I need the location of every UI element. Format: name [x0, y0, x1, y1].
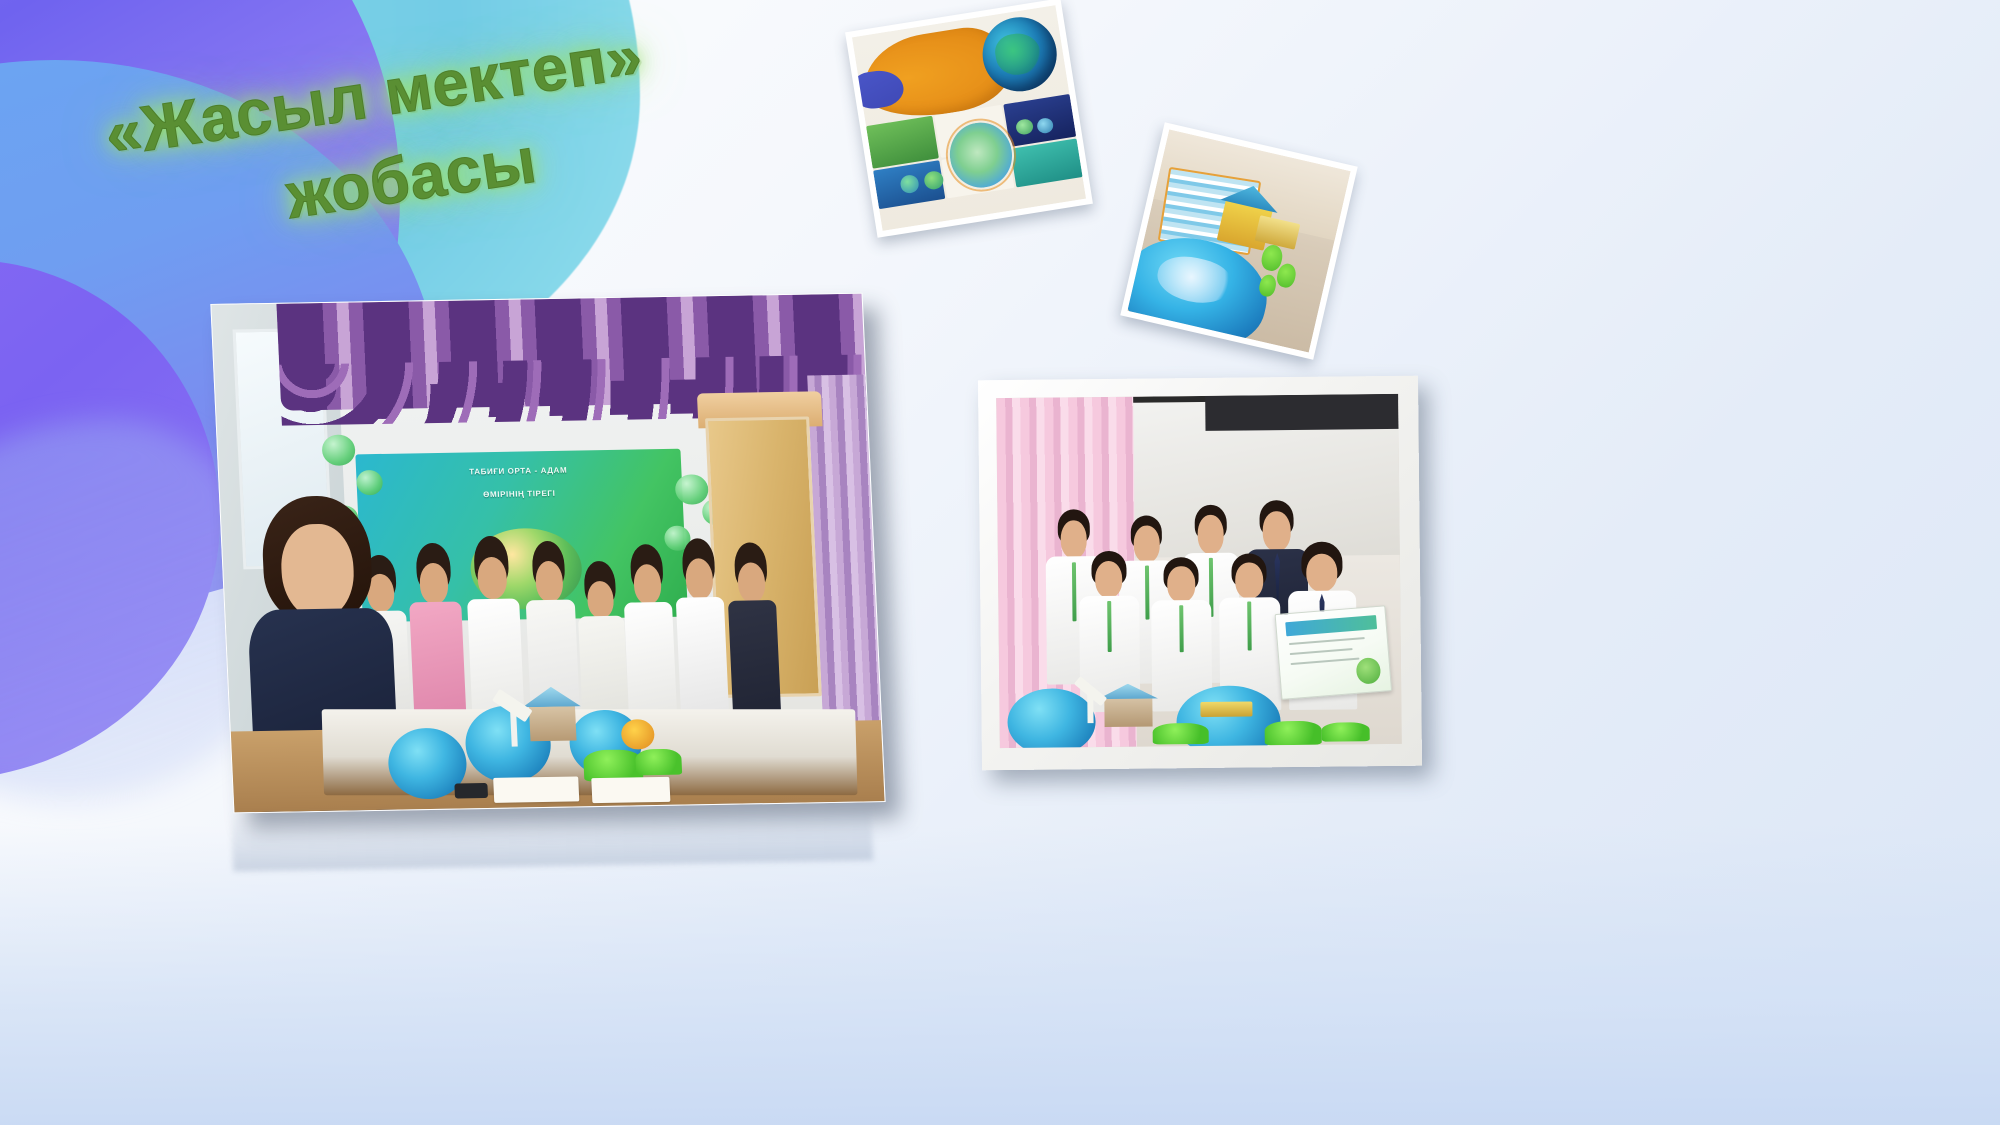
model-grass-1 [1152, 722, 1208, 744]
photo-group-certificate[interactable] [978, 376, 1422, 771]
photo-hall-assembly[interactable]: ТАБИҒИ ОРТА - АДАМ ӨМІРІНІҢ ТІРЕГІ [210, 293, 885, 814]
hall-paper-sheet-2 [591, 777, 670, 804]
hall-phone-on-table [454, 783, 487, 799]
model-globe-left [1007, 688, 1096, 748]
hall-model-flower [621, 719, 655, 750]
certificate-header-band [1285, 615, 1377, 636]
student-head [1167, 566, 1195, 602]
student-lanyard [1107, 601, 1112, 653]
photo-eco-poster[interactable] [845, 0, 1093, 238]
student-lanyard [1145, 566, 1150, 620]
photo-globe-model[interactable] [1120, 122, 1357, 359]
student-head [1235, 562, 1263, 599]
student-lanyard [1247, 602, 1252, 651]
certificate-text-line-1 [1289, 637, 1365, 645]
student-head [1197, 515, 1223, 555]
violet-blob-secondary [0, 260, 220, 780]
student-lanyard [1072, 562, 1077, 622]
model-windmill [1088, 692, 1094, 724]
hall-balloon-1 [321, 434, 355, 465]
hall-paper-sheet-1 [493, 776, 579, 803]
group-eco-models [999, 660, 1402, 748]
hall-photo-reflection [231, 800, 874, 871]
banner-text-line-2: ӨМІРІНІҢ ТІРЕГІ [376, 486, 663, 503]
certificate-text-line-2 [1290, 648, 1353, 655]
model-grass-2 [1265, 721, 1322, 745]
hall-model-windmill [509, 706, 517, 747]
model-house [1104, 698, 1153, 727]
hall-model-house [529, 705, 576, 741]
hall-balloon-4 [675, 474, 709, 505]
student-head [1095, 560, 1123, 597]
student-head [1306, 553, 1338, 592]
hall-balloon-2 [356, 470, 383, 496]
hall-pane: ТАБИҒИ ОРТА - АДАМ ӨМІРІНІҢ ТІРЕГІ [211, 294, 884, 813]
group-dark-header-strip [1205, 394, 1398, 431]
banner-text-line-1: ТАБИҒИ ОРТА - АДАМ [375, 463, 662, 480]
group-photo-pane [996, 394, 1402, 748]
hall-model-grass-2 [635, 749, 682, 775]
hall-model-grass-1 [583, 749, 643, 780]
globe-model-pane [1127, 129, 1350, 352]
eco-poster-pane [852, 5, 1086, 231]
slide-title: «Жасыл мектеп» жобасы [100, 0, 837, 261]
model-truck [1200, 702, 1252, 718]
student-lanyard [1179, 605, 1184, 653]
model-grass-3 [1321, 722, 1369, 741]
presentation-slide: «Жасыл мектеп» жобасы [0, 0, 2000, 1125]
